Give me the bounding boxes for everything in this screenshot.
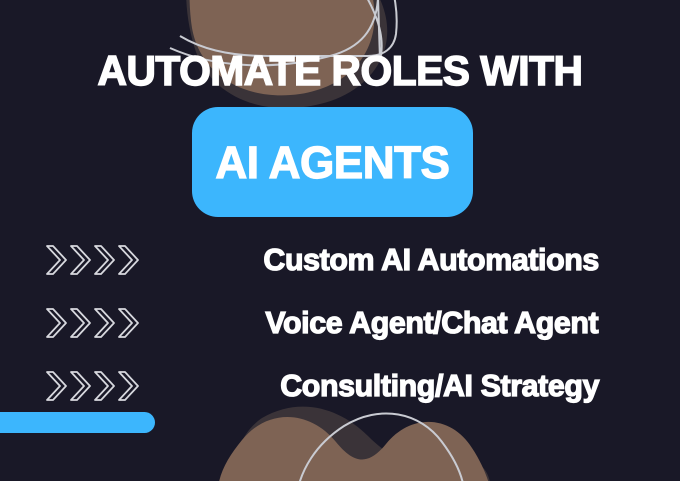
- service-label: Consulting/AI Strategy: [280, 370, 599, 401]
- service-label: Custom AI Automations: [263, 244, 599, 275]
- chevron-right-outline-icon: [44, 369, 174, 403]
- chevron-right-outline-icon: [44, 243, 174, 277]
- chevron-right-outline-icon: [44, 306, 174, 340]
- list-item: Voice Agent/Chat Agent: [0, 291, 680, 354]
- ai-agents-badge: AI AGENTS: [192, 107, 473, 217]
- promo-poster: AUTOMATE ROLES WITH AI AGENTS Custom AI …: [0, 0, 680, 481]
- service-label: Voice Agent/Chat Agent: [266, 307, 599, 338]
- accent-bar: [0, 412, 155, 433]
- list-item: Custom AI Automations: [0, 228, 680, 291]
- service-list: Custom AI Automations Voice Agent/Chat A…: [0, 228, 680, 417]
- headline-title: AUTOMATE ROLES WITH: [10, 50, 670, 92]
- bottom-shadow-blob: [235, 407, 490, 481]
- ai-agents-badge-label: AI AGENTS: [215, 140, 449, 185]
- list-item: Consulting/AI Strategy: [0, 354, 680, 417]
- bottom-brown-blob: [217, 417, 494, 481]
- bottom-outline-curve: [296, 413, 464, 481]
